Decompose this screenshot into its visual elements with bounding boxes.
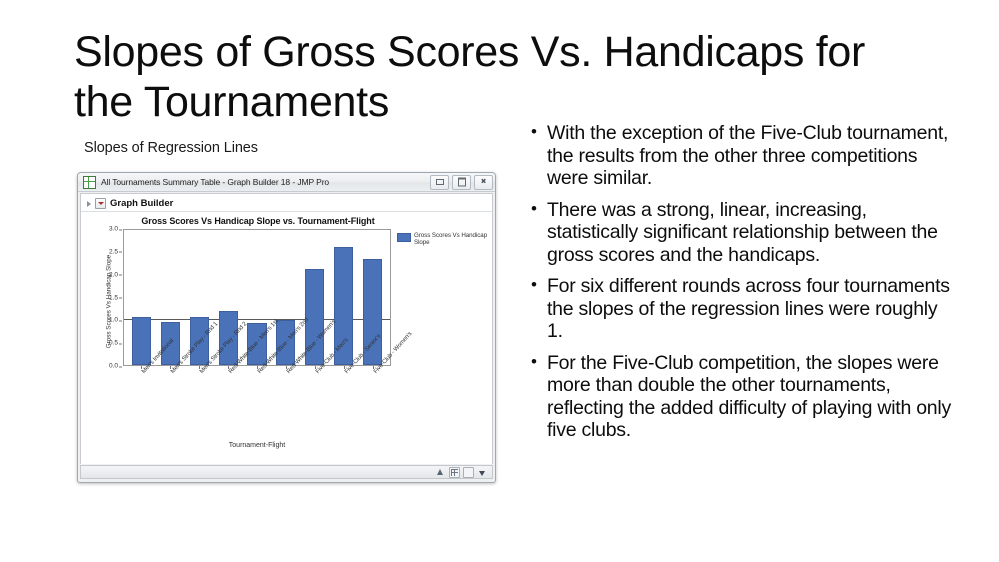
chart-subtitle-label: Slopes of Regression Lines xyxy=(84,140,506,156)
chart-title: Gross Scores Vs Handicap Slope vs. Tourn… xyxy=(119,216,397,226)
checkbox-icon[interactable] xyxy=(463,467,474,478)
bullet-text: With the exception of the Five-Club tour… xyxy=(547,122,951,190)
red-triangle-menu-icon[interactable] xyxy=(95,198,106,209)
x-axis-tick: Men's Stroke Play - Rnd 1 xyxy=(155,367,184,437)
x-axis-tick: Red-White-Blue - Men's 1st xyxy=(213,367,242,437)
bullet-marker-icon: • xyxy=(531,275,547,296)
x-axis-tick: Five-Club - Men's xyxy=(301,367,330,437)
bullet-text: For the Five-Club competition, the slope… xyxy=(547,352,951,442)
legend-swatch-icon xyxy=(397,233,411,242)
list-item: •For six different rounds across four to… xyxy=(531,275,951,343)
window-controls: ✖ xyxy=(430,175,493,190)
minimize-icon[interactable] xyxy=(430,175,449,190)
page-title: Slopes of Gross Scores Vs. Handicaps for… xyxy=(74,28,904,128)
up-arrow-icon[interactable] xyxy=(435,467,446,478)
disclosure-triangle-icon[interactable] xyxy=(87,201,91,207)
window-title: All Tournaments Summary Table - Graph Bu… xyxy=(101,177,430,187)
caret-down-icon[interactable] xyxy=(477,467,488,478)
x-axis-tick: Men's Invitational xyxy=(126,367,155,437)
bullet-marker-icon: • xyxy=(531,122,547,143)
x-axis-tick: Red-White-Blue - Women's xyxy=(272,367,301,437)
grid-icon[interactable] xyxy=(449,467,460,478)
list-item: •With the exception of the Five-Club tou… xyxy=(531,122,951,190)
bullet-text: There was a strong, linear, increasing, … xyxy=(547,199,951,267)
x-axis-tick: Men's Stroke Play - Rnd 2 xyxy=(184,367,213,437)
bar[interactable] xyxy=(132,317,151,365)
chart-legend[interactable]: Gross Scores Vs Handicap Slope xyxy=(397,232,489,246)
status-bar xyxy=(80,465,493,479)
window-title-bar[interactable]: All Tournaments Summary Table - Graph Bu… xyxy=(78,173,495,192)
x-axis-tick: Five-Club - Senior's xyxy=(330,367,359,437)
x-axis-labels: Men's InvitationalMen's Stroke Play - Rn… xyxy=(123,367,391,437)
list-item: •There was a strong, linear, increasing,… xyxy=(531,199,951,267)
bullet-list: •With the exception of the Five-Club tou… xyxy=(531,122,951,451)
x-axis-tick: Red-White-Blue - Men's 2nd xyxy=(242,367,271,437)
bullet-marker-icon: • xyxy=(531,199,547,220)
bullet-text: For six different rounds across four tou… xyxy=(547,275,951,343)
maximize-icon[interactable] xyxy=(452,175,471,190)
window-content: Graph Builder Gross Scores Vs Handicap S… xyxy=(80,193,493,464)
list-item: •For the Five-Club competition, the slop… xyxy=(531,352,951,442)
close-icon[interactable]: ✖ xyxy=(474,175,493,190)
y-axis-tick-label: 3.0 xyxy=(109,226,118,233)
chart-area: Gross Scores Vs Handicap Slope vs. Tourn… xyxy=(81,212,492,460)
left-column: Slopes of Regression Lines xyxy=(76,140,506,167)
y-axis-tick-label: 0.0 xyxy=(109,363,118,370)
graph-builder-label: Graph Builder xyxy=(110,198,173,209)
bar-slot xyxy=(127,230,156,365)
graph-builder-panel-header[interactable]: Graph Builder xyxy=(81,194,492,212)
legend-item-label: Gross Scores Vs Handicap Slope xyxy=(414,232,489,246)
jmp-grid-icon xyxy=(83,176,96,189)
x-axis-title: Tournament-Flight xyxy=(123,442,391,449)
y-axis-title: Gross Scores Vs Handicap Slope xyxy=(106,247,113,357)
bullet-marker-icon: • xyxy=(531,352,547,373)
x-axis-tick: Five-Club - Women's xyxy=(359,367,388,437)
jmp-application-window[interactable]: All Tournaments Summary Table - Graph Bu… xyxy=(77,172,496,483)
